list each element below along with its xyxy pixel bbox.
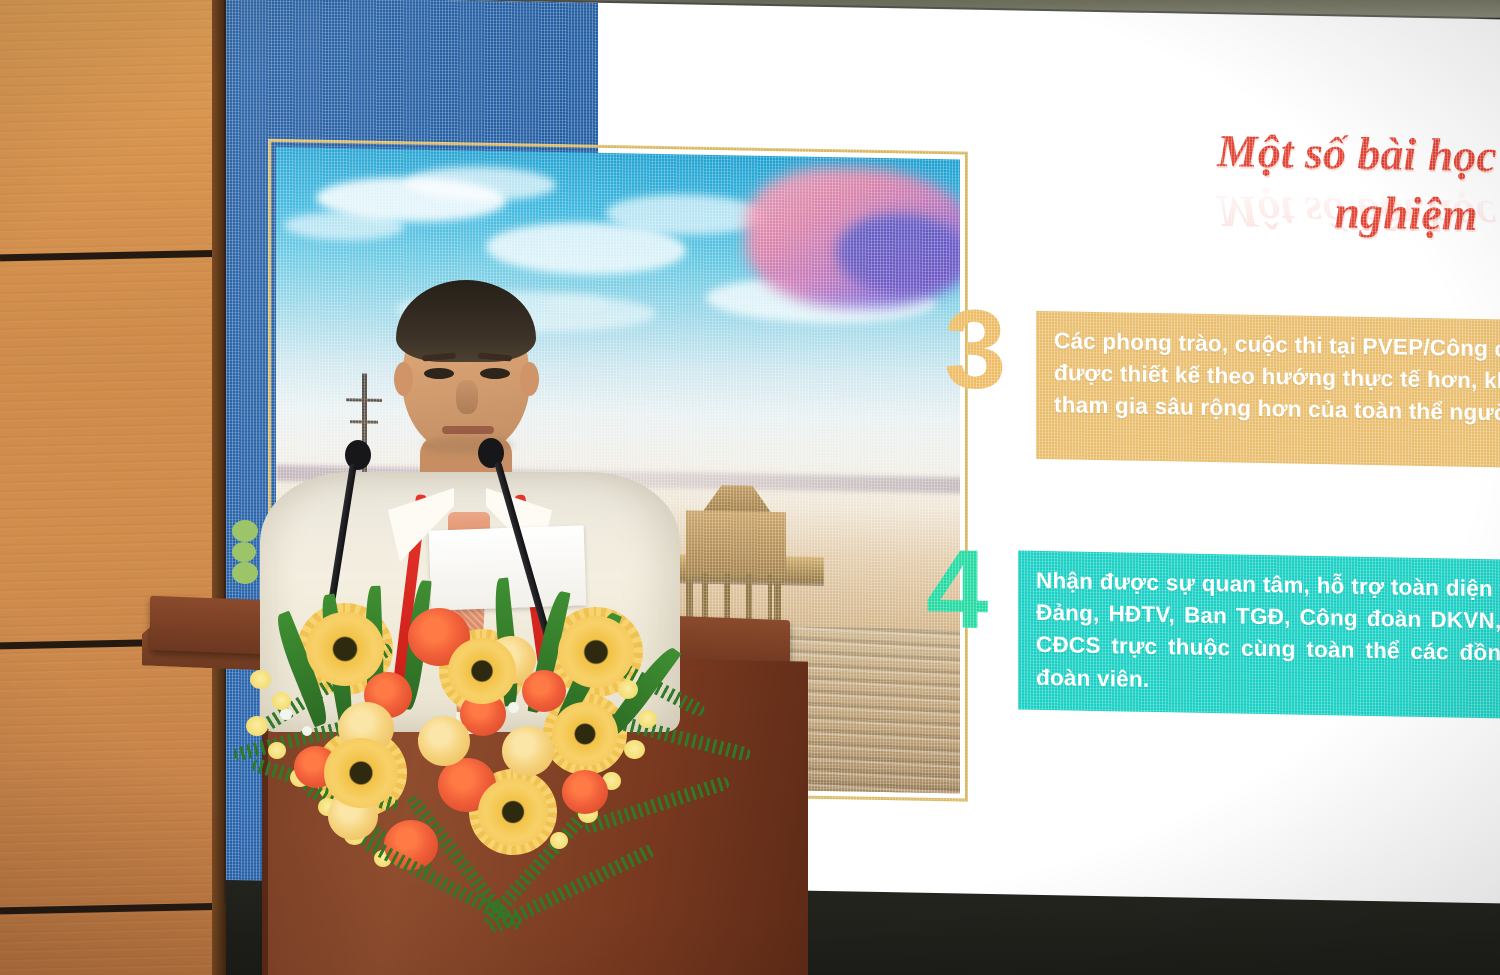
bullet-text-3: Các phong trào, cuộc thi tại PVEP/Công đ… [1054,325,1500,433]
orchid-bloom [246,716,268,736]
yellow-gerbera [558,616,634,688]
eye-left [424,368,454,379]
bullet-text-4: Nhận được sự quan tâm, hỗ trợ toàn diện … [1036,565,1500,705]
bullet-box-3: Các phong trào, cuộc thi tại PVEP/Công đ… [1036,311,1500,471]
orchid-bloom [272,692,291,710]
yellow-gerbera [324,738,398,808]
slide-title-line-2: nghiệm [1106,179,1500,249]
yellow-gerbera [306,612,384,686]
slide-title: Một số bài học kinh nghiệm [1106,120,1500,249]
orchid-bloom [250,670,271,689]
floral-arrangement [232,520,752,940]
cream-rose [418,716,470,766]
orchid-bloom [550,832,568,849]
yellow-gerbera [478,778,548,846]
bullet-number-4: 4 [926,533,988,646]
ear-right [520,362,539,396]
yellow-gerbera [552,702,618,766]
bullet-number-3: 3 [944,293,1006,406]
orchid-bloom [268,742,286,759]
orange-rose [562,770,608,814]
babys-breath [508,702,519,713]
mouth [442,426,494,434]
yellow-gerbera [448,638,516,704]
orchid-bloom [624,740,645,759]
orchid-bloom [618,680,638,699]
cream-rose [502,726,554,776]
nose [456,380,478,414]
bullet-box-4: Nhận được sự quan tâm, hỗ trợ toàn diện … [1018,551,1500,721]
eye-right [480,368,510,379]
hair [396,280,536,362]
conference-scene: Một số bài học kinh nghiệm Một số bài họ… [0,0,1500,975]
orchid-bloom [638,710,657,728]
ear-left [394,362,413,396]
babys-breath [302,726,312,736]
